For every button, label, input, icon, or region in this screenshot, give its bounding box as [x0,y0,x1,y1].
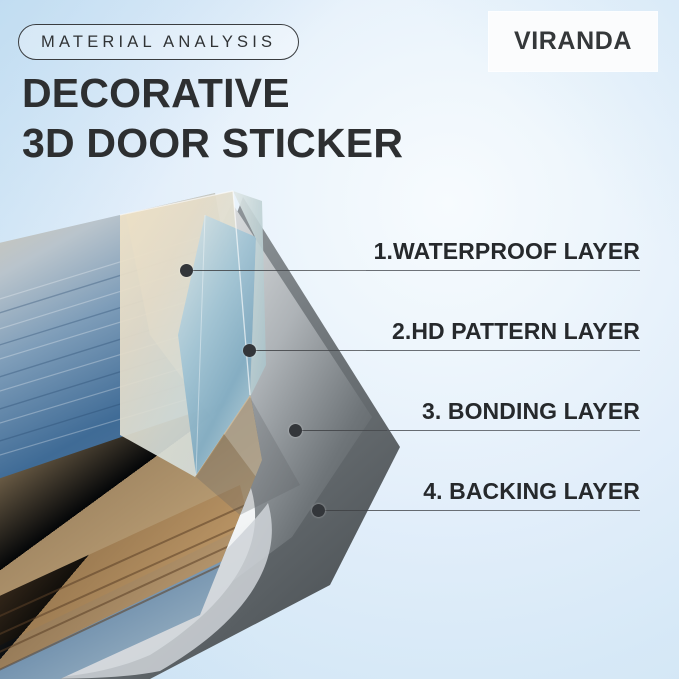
label-underline [366,270,640,271]
badge-label: MATERIAL ANALYSIS [41,33,276,52]
layer-label-3: 3. BONDING LAYER [422,398,640,425]
layer-label-1: 1.WATERPROOF LAYER [374,238,640,265]
layer-label-4: 4. BACKING LAYER [423,478,640,505]
brand-name: VIRANDA [514,27,632,56]
label-underline [387,430,640,431]
infographic-canvas: MATERIAL ANALYSIS DECORATIVE 3D DOOR STI… [0,0,679,679]
page-title: DECORATIVE 3D DOOR STICKER [22,68,403,168]
title-line-1: DECORATIVE [22,70,290,116]
layer-label-2: 2.HD PATTERN LAYER [392,318,640,345]
material-analysis-badge: MATERIAL ANALYSIS [18,24,299,60]
label-underline [366,350,640,351]
label-underline [387,510,640,511]
callout-dot [312,504,325,517]
callout-dot [289,424,302,437]
brand-logo: VIRANDA [489,12,657,71]
title-line-2: 3D DOOR STICKER [22,118,403,168]
callout-dot [243,344,256,357]
callout-dot [180,264,193,277]
